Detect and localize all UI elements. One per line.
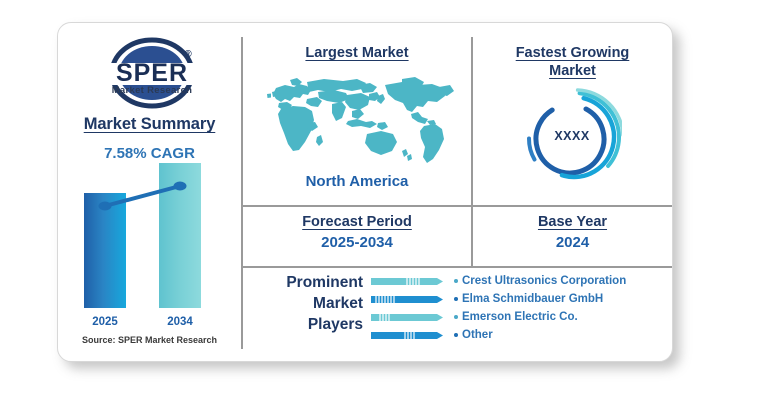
largest-market-panel: Largest Market (243, 37, 471, 205)
fastest-growing-panel: Fastest Growing Market XXXX (473, 37, 672, 205)
list-item: Emerson Electric Co. (371, 308, 671, 326)
fastest-growing-title: Fastest Growing Market (473, 44, 672, 80)
player-name: Other (462, 329, 493, 341)
infographic-canvas: SPER Market Research ® Market Summary 7.… (0, 0, 764, 400)
forecast-period-value: 2025-2034 (243, 234, 471, 251)
largest-market-title: Largest Market (243, 44, 471, 62)
infographic-card: SPER Market Research ® Market Summary 7.… (57, 22, 673, 362)
list-item: Elma Schmidbauer GmbH (371, 290, 671, 308)
world-map-icon (259, 75, 455, 167)
bullet-dot-icon (454, 315, 458, 319)
prominent-players-panel: Prominent Market Players (243, 270, 672, 350)
cagr-value: 7.58% CAGR (58, 145, 241, 162)
fastest-growing-donut: XXXX (522, 87, 622, 187)
list-item: Crest Ultrasonics Corporation (371, 272, 671, 290)
svg-text:SPER: SPER (116, 59, 188, 87)
list-item: Other (371, 326, 671, 344)
striped-arrow-icon (371, 311, 451, 324)
fastest-growing-value: XXXX (522, 129, 622, 143)
player-name: Crest Ultrasonics Corporation (462, 275, 626, 287)
striped-arrow-icon (371, 293, 451, 306)
bullet-dot-icon (454, 279, 458, 283)
forecast-period-panel: Forecast Period 2025-2034 (243, 209, 471, 265)
svg-text:®: ® (184, 49, 192, 60)
player-bar-icon (371, 275, 451, 288)
prominent-players-list: Crest Ultrasonics Corporation (371, 272, 671, 344)
bar-label-2034: 2034 (159, 316, 201, 328)
base-year-panel: Base Year 2024 (473, 209, 672, 265)
bullet-dot-icon (454, 297, 458, 301)
base-year-value: 2024 (473, 234, 672, 251)
player-name: Elma Schmidbauer GmbH (462, 293, 603, 305)
forecast-period-title: Forecast Period (243, 213, 471, 231)
player-bar-icon (371, 311, 451, 324)
market-summary-bar-chart: 2025 2034 (58, 173, 241, 333)
largest-market-value: North America (243, 173, 471, 190)
svg-text:Market Research: Market Research (112, 85, 193, 96)
sper-logo-icon: SPER Market Research ® (96, 37, 208, 111)
divider-horizontal-lower (241, 266, 672, 268)
striped-arrow-icon (371, 275, 451, 288)
market-summary-panel: SPER Market Research ® Market Summary 7.… (58, 23, 241, 362)
source-note: Source: SPER Market Research (58, 335, 241, 345)
bar-2034 (159, 163, 201, 308)
bar-label-2025: 2025 (84, 316, 126, 328)
bar-2025 (84, 193, 126, 308)
players-heading-line3: Players (308, 316, 363, 333)
fastest-growing-title-line2: Market (549, 63, 596, 79)
sper-logo: SPER Market Research ® (96, 37, 208, 111)
base-year-title: Base Year (473, 213, 672, 231)
player-name: Emerson Electric Co. (462, 311, 578, 323)
market-summary-title: Market Summary (58, 115, 241, 134)
striped-arrow-icon (371, 329, 451, 342)
divider-horizontal-upper (241, 205, 672, 207)
players-heading-line1: Prominent (286, 274, 363, 291)
fastest-growing-title-line1: Fastest Growing (516, 45, 630, 61)
prominent-players-heading: Prominent Market Players (243, 272, 363, 335)
world-map-svg (259, 75, 455, 167)
bullet-dot-icon (454, 333, 458, 337)
players-heading-line2: Market (313, 295, 363, 312)
player-bar-icon (371, 329, 451, 342)
player-bar-icon (371, 293, 451, 306)
